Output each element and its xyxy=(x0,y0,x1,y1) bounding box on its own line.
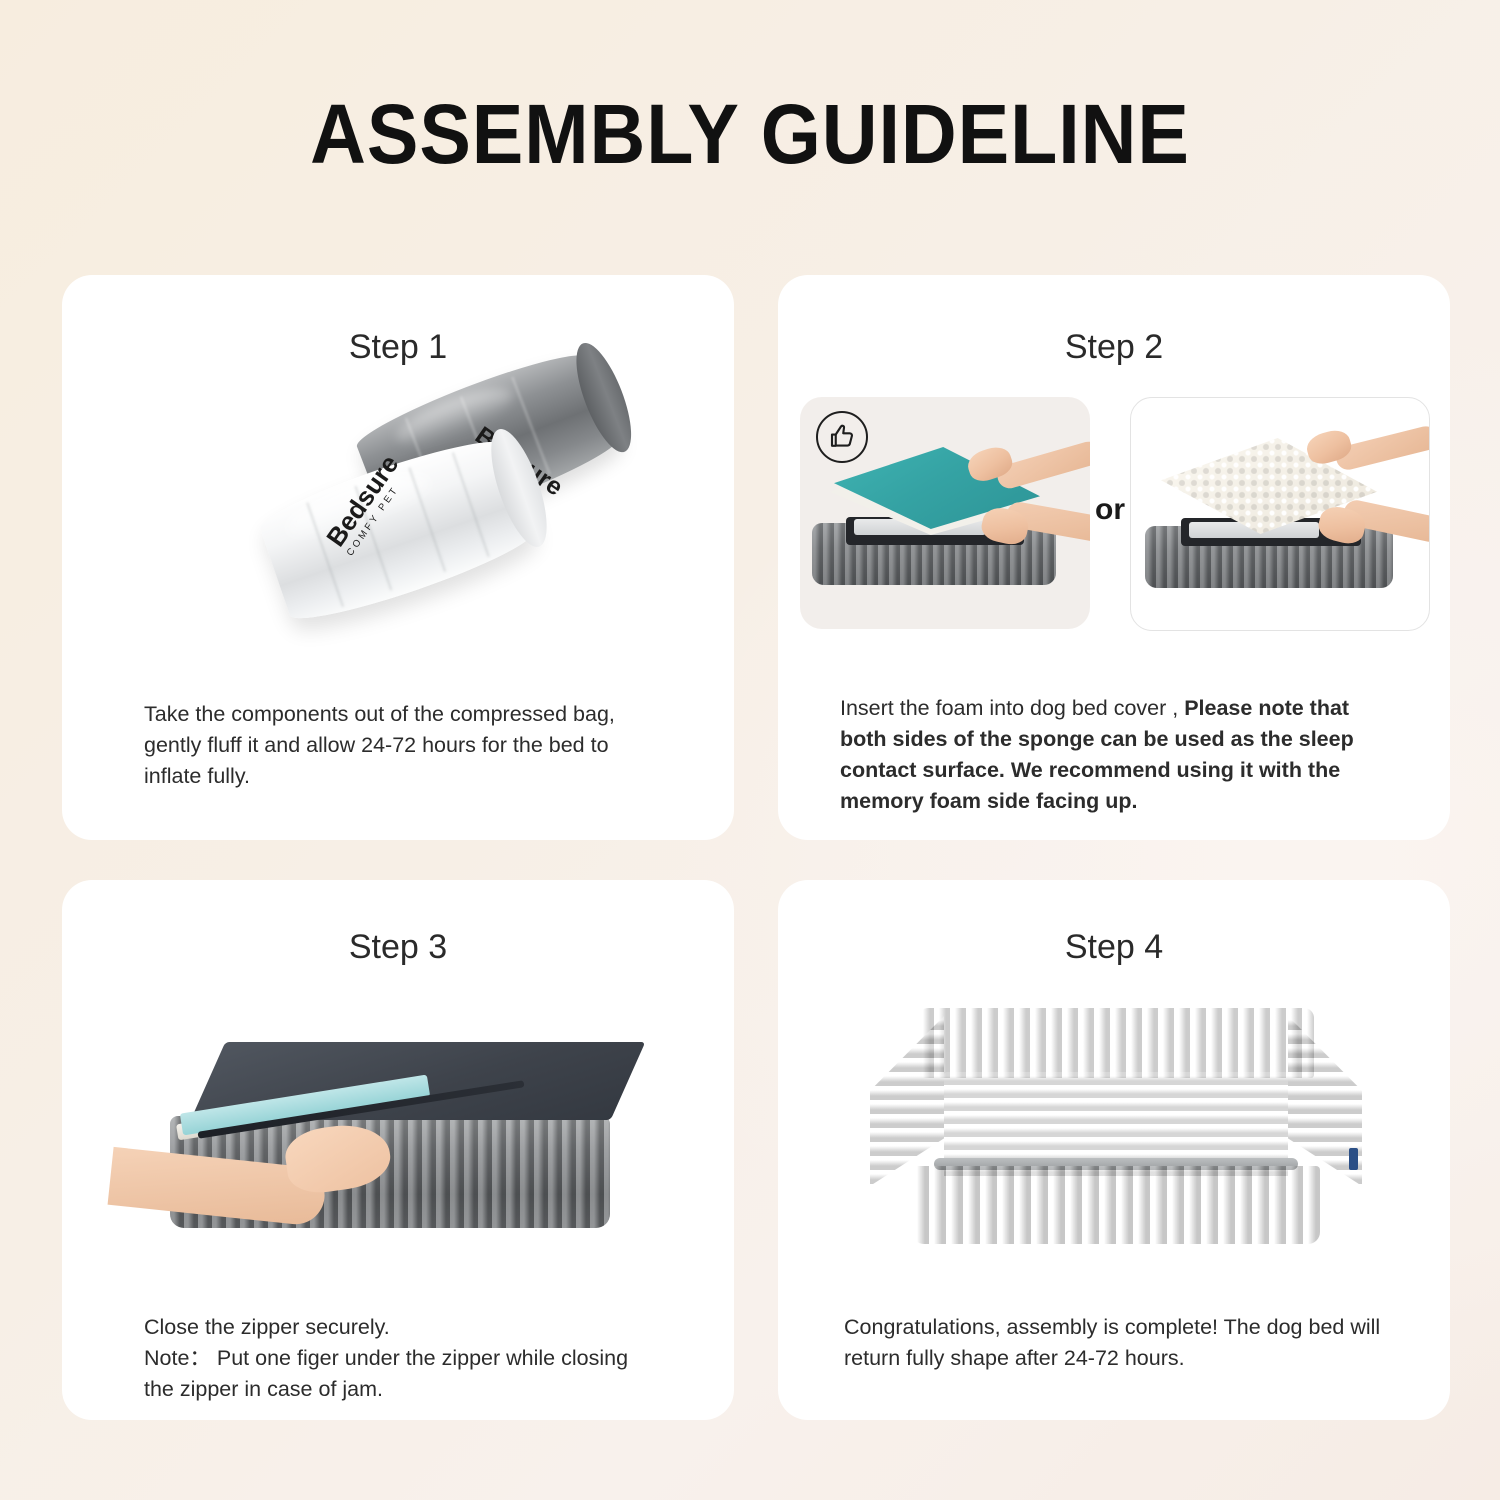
step-3-caption-line-2: Note： Put one figer under the zipper whi… xyxy=(144,1343,656,1405)
finished-dog-bed-illustration xyxy=(860,998,1372,1266)
step-1-heading: Step 1 xyxy=(62,328,734,367)
step-1-caption: Take the components out of the compresse… xyxy=(144,699,656,792)
bed-left-bolster xyxy=(870,1016,944,1186)
bed-back-bolster xyxy=(918,1008,1314,1078)
step-3-caption-line-1: Close the zipper securely. xyxy=(144,1312,656,1343)
step-card-1: Step 1 Bedsure COMFY PET xyxy=(62,275,734,840)
bed-front-panel xyxy=(912,1166,1320,1244)
foam-insertion-panels: or xyxy=(800,397,1428,649)
step-3-heading: Step 3 xyxy=(62,928,734,967)
brand-tag xyxy=(1349,1148,1358,1170)
step-3-caption: Close the zipper securely. Note： Put one… xyxy=(144,1312,656,1405)
step-2-caption: Insert the foam into dog bed cover , Ple… xyxy=(840,693,1396,817)
step-card-3: Step 3 Close the zipper securely. Note： … xyxy=(62,880,734,1420)
step-2-heading: Step 2 xyxy=(778,328,1450,367)
compressed-bags-illustration: Bedsure COMFY PET Bedsure COMFY PET xyxy=(244,375,664,665)
or-divider-label: or xyxy=(1090,493,1130,527)
step-card-2: Step 2 xyxy=(778,275,1450,840)
teal-foam-side-panel xyxy=(800,397,1090,629)
step-2-caption-regular: Insert the foam into dog bed cover , xyxy=(840,696,1184,720)
step-4-caption: Congratulations, assembly is complete! T… xyxy=(844,1312,1400,1374)
step-4-heading: Step 4 xyxy=(778,928,1450,967)
infographic-page: ASSEMBLY GUIDELINE Step 1 Bedsure COMFY … xyxy=(0,0,1500,1500)
thumbs-up-icon xyxy=(816,411,868,463)
step-card-4: Step 4 Congratulations, assembly is comp… xyxy=(778,880,1450,1420)
memory-foam-side-panel xyxy=(1130,397,1430,631)
page-title: ASSEMBLY GUIDELINE xyxy=(60,86,1440,183)
closing-zipper-illustration xyxy=(110,1008,690,1258)
